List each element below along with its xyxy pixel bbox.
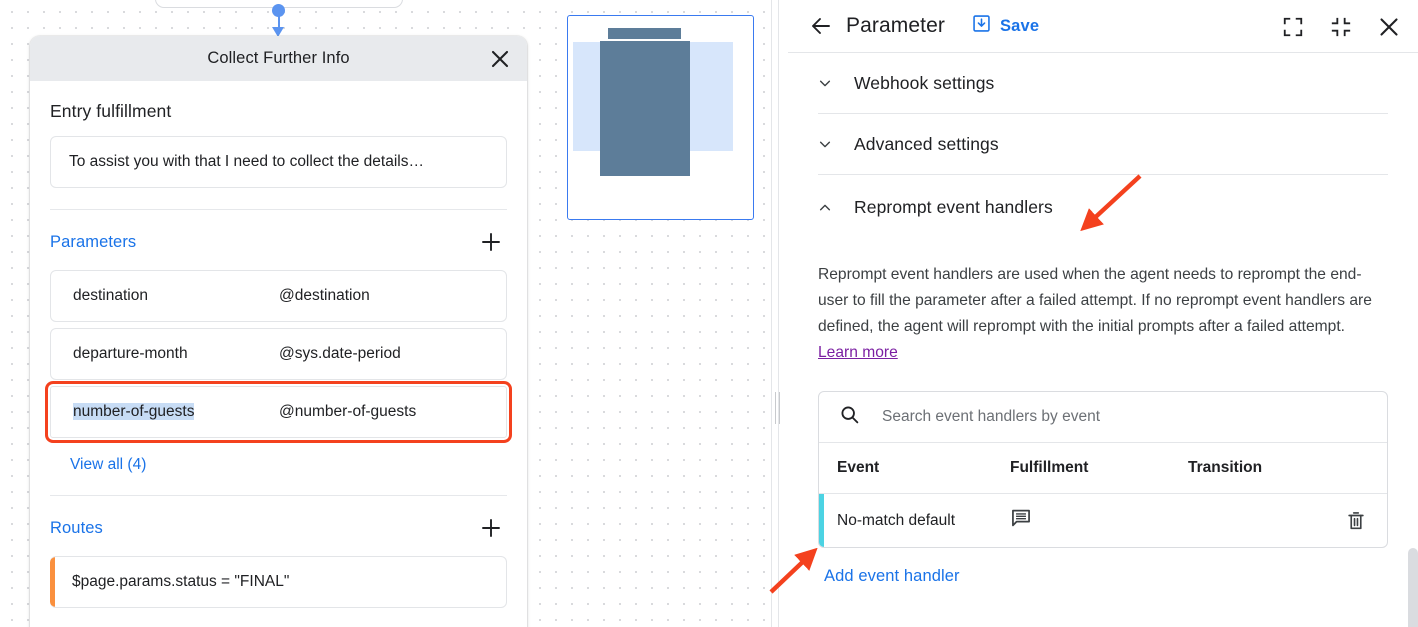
parameter-entity: @number-of-guests bbox=[279, 403, 416, 421]
table-row-selected[interactable]: number-of-guests @number-of-guests bbox=[50, 386, 507, 438]
save-icon bbox=[971, 13, 992, 39]
section-label: Advanced settings bbox=[854, 134, 999, 155]
table-row[interactable]: No-match default bbox=[819, 494, 1387, 547]
message-icon[interactable] bbox=[1010, 507, 1188, 534]
reprompt-description: Reprompt event handlers are used when th… bbox=[788, 240, 1418, 366]
panel-header: Parameter Save bbox=[788, 0, 1418, 53]
reprompt-description-text: Reprompt event handlers are used when th… bbox=[818, 266, 1372, 335]
flow-canvas[interactable]: Collect Further Info Entry fulfillment T… bbox=[0, 0, 779, 627]
collapse-icon[interactable] bbox=[1328, 14, 1354, 40]
event-handlers-card: Event Fulfillment Transition No-match de… bbox=[818, 391, 1388, 548]
page-node-card[interactable]: Collect Further Info Entry fulfillment T… bbox=[30, 36, 527, 627]
search-input[interactable] bbox=[880, 407, 1367, 427]
arrow-left-icon[interactable] bbox=[806, 11, 836, 41]
add-event-handler-link[interactable]: Add event handler bbox=[824, 567, 960, 586]
table-row[interactable]: destination @destination bbox=[50, 270, 507, 322]
parameter-entity: @destination bbox=[279, 287, 370, 305]
save-label: Save bbox=[1000, 17, 1039, 36]
panel-resize-handle[interactable] bbox=[771, 0, 779, 627]
chevron-down-icon[interactable] bbox=[818, 75, 832, 91]
minimap-node-body bbox=[600, 41, 690, 176]
save-button[interactable]: Save bbox=[971, 13, 1039, 39]
parameter-entity: @sys.date-period bbox=[279, 345, 401, 363]
entry-fulfillment-message[interactable]: To assist you with that I need to collec… bbox=[50, 136, 507, 188]
section-label: Webhook settings bbox=[854, 73, 994, 94]
close-icon[interactable] bbox=[487, 46, 513, 72]
table-row[interactable]: departure-month @sys.date-period bbox=[50, 328, 507, 380]
learn-more-link[interactable]: Learn more bbox=[818, 344, 898, 361]
column-header-fulfillment: Fulfillment bbox=[1010, 459, 1188, 477]
column-header-transition: Transition bbox=[1188, 459, 1387, 477]
page-title: Parameter bbox=[846, 14, 945, 38]
parameters-list: destination @destination departure-month… bbox=[50, 270, 507, 446]
trash-icon[interactable] bbox=[1345, 510, 1367, 532]
parameter-name: destination bbox=[51, 287, 279, 305]
panel-body: Webhook settings Advanced settings Repro… bbox=[788, 53, 1418, 627]
parameter-name: departure-month bbox=[51, 345, 279, 363]
routes-heading[interactable]: Routes bbox=[50, 519, 103, 538]
parameter-name-text: number-of-guests bbox=[73, 403, 194, 420]
section-advanced-settings[interactable]: Advanced settings bbox=[788, 114, 1418, 174]
page-title: Collect Further Info bbox=[207, 49, 349, 68]
minimap-node-header bbox=[608, 28, 681, 39]
parameter-name: number-of-guests bbox=[51, 403, 279, 421]
page-node-header: Collect Further Info bbox=[30, 36, 527, 81]
row-status-bar bbox=[819, 494, 824, 547]
panel-scrollbar[interactable] bbox=[1408, 548, 1418, 627]
column-header-event: Event bbox=[837, 459, 1010, 477]
chevron-down-icon[interactable] bbox=[818, 136, 832, 152]
event-handlers-search[interactable] bbox=[819, 392, 1387, 443]
section-webhook-settings[interactable]: Webhook settings bbox=[788, 53, 1418, 113]
parameter-side-panel: Parameter Save bbox=[788, 0, 1418, 627]
panel-header-actions bbox=[1280, 0, 1402, 53]
close-icon[interactable] bbox=[1376, 14, 1402, 40]
section-label: Reprompt event handlers bbox=[854, 197, 1053, 218]
route-item[interactable]: $page.params.status = "FINAL" bbox=[50, 556, 507, 608]
expand-icon[interactable] bbox=[1280, 14, 1306, 40]
entry-fulfillment-heading: Entry fulfillment bbox=[50, 81, 507, 136]
parameters-section-header: Parameters bbox=[50, 210, 507, 270]
chevron-up-icon[interactable] bbox=[818, 200, 832, 216]
route-condition: $page.params.status = "FINAL" bbox=[72, 573, 289, 591]
search-icon bbox=[839, 404, 860, 430]
event-name: No-match default bbox=[837, 512, 1010, 530]
parameters-heading[interactable]: Parameters bbox=[50, 233, 136, 252]
section-reprompt-event-handlers[interactable]: Reprompt event handlers bbox=[788, 175, 1418, 240]
event-handlers-table-header: Event Fulfillment Transition bbox=[819, 443, 1387, 494]
view-all-parameters-link[interactable]: View all (4) bbox=[50, 446, 507, 474]
panel-resize-grip-icon[interactable] bbox=[775, 392, 782, 424]
add-route-button[interactable] bbox=[477, 514, 505, 542]
route-color-bar bbox=[50, 557, 55, 607]
add-parameter-button[interactable] bbox=[477, 228, 505, 256]
routes-section-header: Routes bbox=[50, 496, 507, 556]
